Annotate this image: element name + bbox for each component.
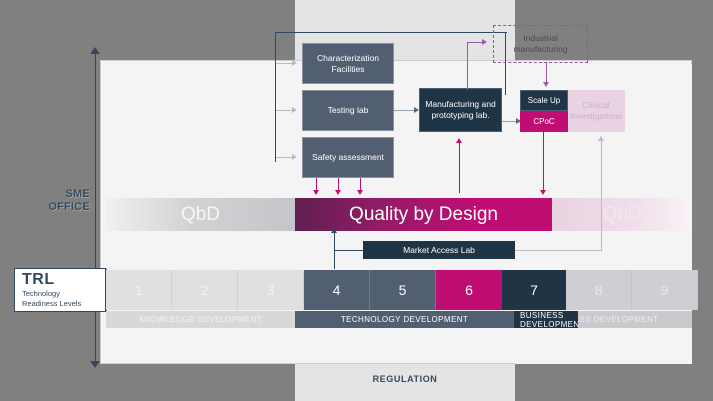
trl-level-5-label: 5 (399, 282, 407, 298)
trl-level-6-label: 6 (465, 282, 473, 298)
box-characterization-facilities-label: Characterization Facilities (305, 53, 391, 75)
box-industrial-manufacturing-label: Industrial manufacturing (496, 33, 585, 55)
connector-qbd-to-manufacturing (459, 143, 460, 193)
box-scale-up[interactable]: Scale Up (520, 90, 568, 111)
band-technology-development: TECHNOLOGY DEVELOPMENT (295, 311, 514, 328)
band-business-development: BUSINESS DEVELOPMENT (514, 311, 578, 328)
trl-level-9[interactable]: 9 (632, 270, 698, 310)
sme-axis-arrow-up-icon (90, 47, 100, 54)
qbd-band-left: QbD (106, 198, 295, 231)
box-clinical-investigations[interactable]: Clinical Investigations (567, 90, 625, 132)
connector-cpoc-to-qbd (543, 132, 544, 192)
trl-level-2-label: 2 (201, 282, 209, 298)
connector-market-access-up2 (334, 232, 335, 252)
trl-scale: 123456789 (106, 270, 692, 310)
qbd-band-right-label: QbD (602, 204, 641, 226)
connector-market-access-to-clinical-horizontal (515, 250, 602, 251)
band-knowledge-development: KNOWLEDGE DEVELOPMENT (106, 311, 295, 328)
sme-label-line2: OFFICE (30, 201, 90, 214)
connector-manufacturing-to-industrial-vertical (467, 42, 468, 90)
trl-level-8-label: 8 (595, 282, 603, 298)
box-scale-up-label: Scale Up (528, 95, 560, 106)
trl-level-7[interactable]: 7 (502, 270, 566, 310)
box-manufacturing-prototyping-lab[interactable]: Manufacturing and prototyping lab. (419, 88, 502, 132)
feedback-line-top (275, 32, 507, 33)
sme-axis-line (95, 52, 96, 367)
feedback-arrow-characterization-icon (292, 60, 297, 66)
box-safety-assessment[interactable]: Safety assessment (302, 137, 394, 178)
trl-expansion-line2: Readiness Levels (22, 299, 101, 308)
trl-level-1-label: 1 (135, 282, 143, 298)
connector-industrial-arrow-icon (482, 39, 487, 45)
trl-level-5[interactable]: 5 (370, 270, 436, 310)
box-manufacturing-prototyping-lab-label: Manufacturing and prototyping lab. (422, 99, 499, 121)
connector-labs-to-qbd-3-arrow-icon (357, 190, 363, 195)
regulation-label: REGULATION (295, 374, 515, 384)
band-technology-development-label: TECHNOLOGY DEVELOPMENT (341, 315, 468, 324)
trl-level-6[interactable]: 6 (436, 270, 502, 310)
trl-expansion-line1: Technology (22, 289, 101, 298)
qbd-band-center-label: Quality by Design (349, 204, 498, 226)
band-business-development-label: BUSINESS DEVELOPMENT (520, 311, 578, 328)
sme-label-line1: SME (30, 188, 90, 201)
qbd-band-right: QbD (552, 198, 692, 231)
trl-level-9-label: 9 (661, 282, 669, 298)
box-cpoc[interactable]: CPoC (520, 111, 568, 132)
connector-cpoc-to-qbd-arrow-icon (540, 190, 546, 195)
box-testing-lab[interactable]: Testing lab (302, 90, 394, 131)
connector-market-access-to-clinical-arrow-icon (598, 136, 604, 141)
box-industrial-manufacturing[interactable]: Industrial manufacturing (493, 25, 588, 63)
qbd-band-center: Quality by Design (295, 198, 552, 231)
box-cpoc-label: CPoC (533, 116, 554, 127)
box-clinical-investigations-label: Clinical Investigations (569, 100, 623, 122)
connector-qbd-to-manufacturing-arrow-icon (456, 138, 462, 143)
feedback-arrow-safety-icon (292, 154, 297, 160)
connector-industrial-to-scaleup-arrow-icon (543, 82, 549, 87)
feedback-arrow-testing-icon (292, 107, 297, 113)
box-testing-lab-label: Testing lab (328, 105, 369, 116)
trl-tag: TRL Technology Readiness Levels (14, 268, 106, 312)
trl-acronym: TRL (22, 272, 101, 288)
feedback-line-left-down (275, 32, 276, 162)
trl-level-3[interactable]: 3 (238, 270, 304, 310)
box-market-access-lab[interactable]: Market Access Lab (363, 241, 515, 259)
box-safety-assessment-label: Safety assessment (312, 152, 384, 163)
trl-level-8[interactable]: 8 (566, 270, 632, 310)
connector-labs-to-qbd-2-arrow-icon (335, 190, 341, 195)
connector-market-access-left (334, 250, 364, 251)
trl-level-1[interactable]: 1 (106, 270, 172, 310)
sme-axis-arrow-down-icon (90, 361, 100, 368)
trl-level-2[interactable]: 2 (172, 270, 238, 310)
box-characterization-facilities[interactable]: Characterization Facilities (302, 43, 394, 84)
connector-labs-to-qbd-1-arrow-icon (313, 190, 319, 195)
trl-level-3-label: 3 (267, 282, 275, 298)
trl-level-4-label: 4 (333, 282, 341, 298)
connector-market-access-up (334, 250, 335, 269)
connector-market-access-to-clinical-vertical (601, 141, 602, 251)
trl-level-7-label: 7 (530, 282, 538, 298)
connector-industrial-to-scaleup (546, 63, 547, 84)
sme-office-label: SME OFFICE (30, 188, 90, 214)
diagram-canvas: SME OFFICE Characterization Facilities T… (0, 0, 713, 401)
trl-level-4[interactable]: 4 (304, 270, 370, 310)
box-market-access-lab-label: Market Access Lab (403, 245, 475, 256)
qbd-band-left-label: QbD (181, 204, 220, 226)
band-knowledge-development-label: KNOWLEDGE DEVELOPMENT (139, 315, 262, 324)
